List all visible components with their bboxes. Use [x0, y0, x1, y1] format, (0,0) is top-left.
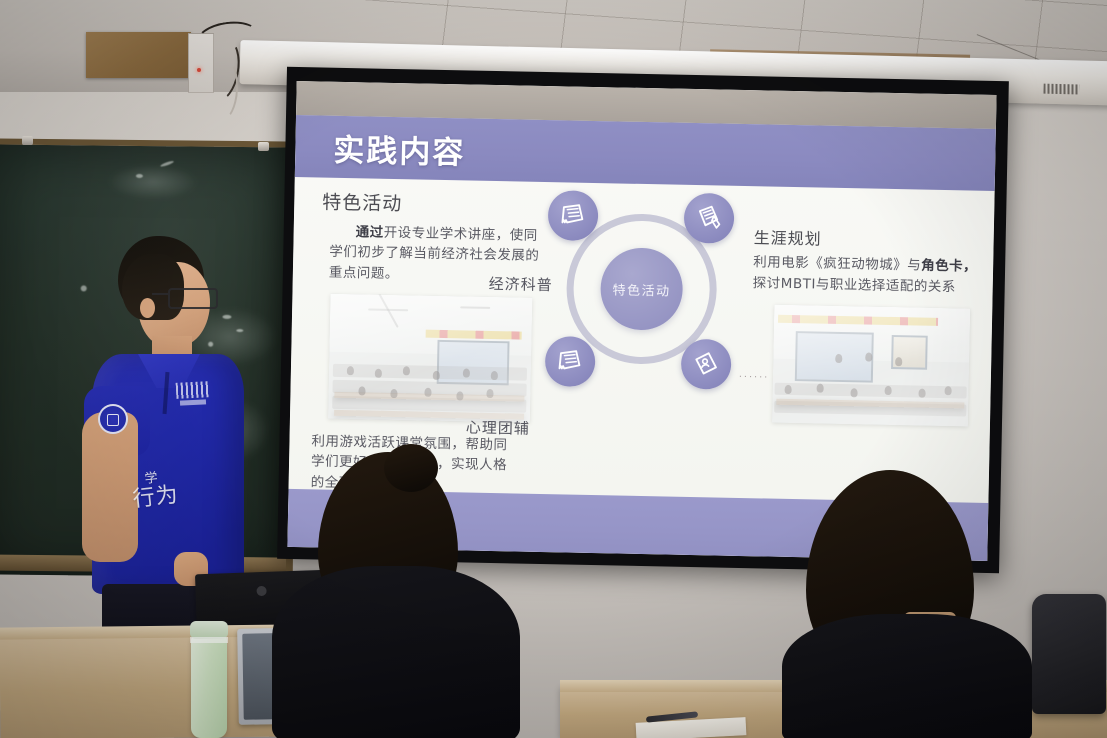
- node-top-right[interactable]: [684, 193, 735, 244]
- right-paragraph-part2: 探讨MBTI与职业选择适配的关系: [753, 275, 956, 295]
- node-bottom-left[interactable]: [545, 336, 596, 387]
- slide-title: 实践内容: [333, 124, 466, 172]
- document-note-icon: [556, 347, 585, 376]
- classroom-presentation-scene: 实践内容 特色活动 通过开设专业学术讲座，使同学们初步了解当前经济社会发展的重点…: [0, 0, 1107, 738]
- audience-torso: [782, 614, 1032, 738]
- document-note-icon: [559, 201, 588, 230]
- indicator-led-icon: [197, 68, 201, 72]
- shirt-printed-text: 学 行为: [130, 470, 180, 513]
- board-clip: [22, 136, 33, 145]
- right-paragraph-part1: 利用电影《疯狂动物城》与: [753, 254, 921, 273]
- glasses-icon: [168, 288, 218, 309]
- left-paragraph-bold: 通过: [356, 224, 384, 241]
- node-bottom-right[interactable]: [681, 339, 732, 390]
- document-pencil-icon: [695, 204, 724, 233]
- green-water-bottle[interactable]: [191, 633, 227, 738]
- tag-economics-popularization: 经济科普: [488, 273, 552, 295]
- office-chair[interactable]: [1032, 594, 1106, 714]
- audience-hair-bun: [384, 444, 438, 492]
- section-heading: 特色活动: [322, 188, 403, 217]
- laptop-logo-icon: [256, 586, 266, 596]
- id-card-icon: [692, 350, 721, 379]
- presenter-arm: [82, 412, 138, 562]
- shirt-printed-text-main: 行为: [132, 483, 180, 513]
- roller-brand-label: [1043, 84, 1079, 95]
- audience-torso: [272, 566, 520, 738]
- left-classroom-photo: [328, 294, 532, 423]
- presenter-ear: [140, 298, 155, 318]
- right-paragraph-bold: 角色卡，: [921, 258, 977, 275]
- ellipsis-marker: ......: [739, 368, 770, 381]
- university-crest-badge-icon: [98, 404, 128, 434]
- board-clip: [258, 142, 269, 151]
- bottle-ring: [190, 637, 228, 643]
- right-heading: 生涯规划: [753, 224, 821, 249]
- right-paragraph: 利用电影《疯狂动物城》与角色卡，探讨MBTI与职业选择适配的关系: [753, 252, 980, 298]
- shirt-chest-logo: [176, 381, 211, 399]
- right-classroom-photo: [772, 305, 970, 427]
- wall-wood-panel: [86, 32, 191, 78]
- circular-diagram: 特色活动: [542, 196, 736, 400]
